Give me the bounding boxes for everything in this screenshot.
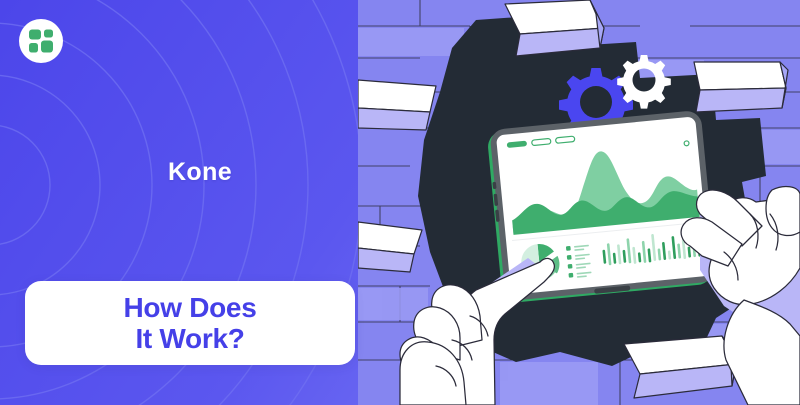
brick-left-upper <box>358 80 436 130</box>
brand-name: Kone <box>0 158 400 187</box>
logo-circle <box>19 19 63 63</box>
headline-line-2: It Work? <box>135 323 244 354</box>
headline-line-1: How Does <box>124 292 257 323</box>
headline-card[interactable]: How Does It Work? <box>25 281 355 365</box>
headline-text: How Does It Work? <box>124 292 257 355</box>
kone-logo[interactable] <box>19 19 63 63</box>
brick-right-upper <box>694 62 788 112</box>
promo-banner: Kone How Does It Work? <box>0 0 800 405</box>
brick-top-center <box>505 0 604 56</box>
